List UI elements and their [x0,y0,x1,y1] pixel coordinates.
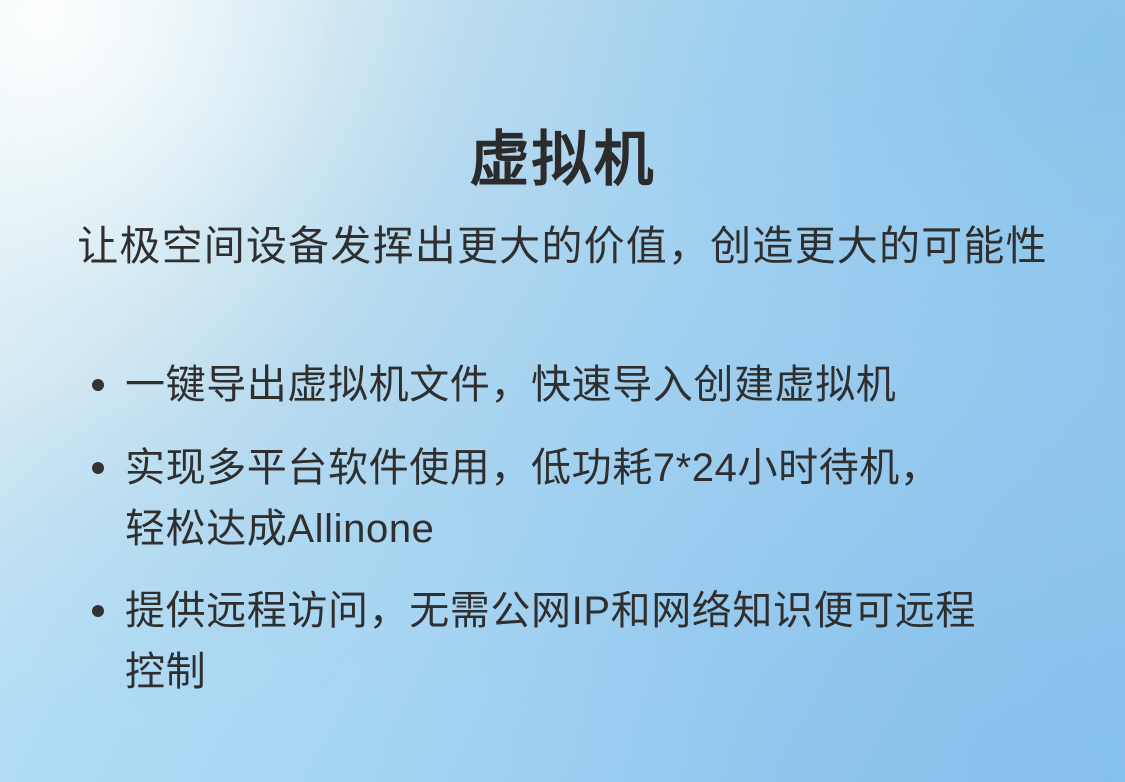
list-item: 实现多平台软件使用，低功耗7*24小时待机， 轻松达成Allinone [92,438,1082,560]
bullet-dot-icon [92,605,104,617]
page-title: 虚拟机 [0,128,1125,193]
list-item-label: 一键导出虚拟机文件，快速导入创建虚拟机 [125,355,1082,416]
slide-subtitle: 让极空间设备发挥出更大的价值，创造更大的可能性 [0,222,1125,271]
list-item-label: 提供远程访问，无需公网IP和网络知识便可远程 控制 [125,581,1082,703]
list-item-label: 实现多平台软件使用，低功耗7*24小时待机， 轻松达成Allinone [125,438,1082,560]
feature-bullet-list: 一键导出虚拟机文件，快速导入创建虚拟机 实现多平台软件使用，低功耗7*24小时待… [92,355,1082,703]
list-item: 一键导出虚拟机文件，快速导入创建虚拟机 [92,355,1082,416]
presentation-slide: 虚拟机 让极空间设备发挥出更大的价值，创造更大的可能性 一键导出虚拟机文件，快速… [0,0,1125,782]
bullet-dot-icon [92,379,104,391]
slide-content: 虚拟机 让极空间设备发挥出更大的价值，创造更大的可能性 一键导出虚拟机文件，快速… [0,0,1125,782]
list-item: 提供远程访问，无需公网IP和网络知识便可远程 控制 [92,581,1082,703]
bullet-dot-icon [92,462,104,474]
